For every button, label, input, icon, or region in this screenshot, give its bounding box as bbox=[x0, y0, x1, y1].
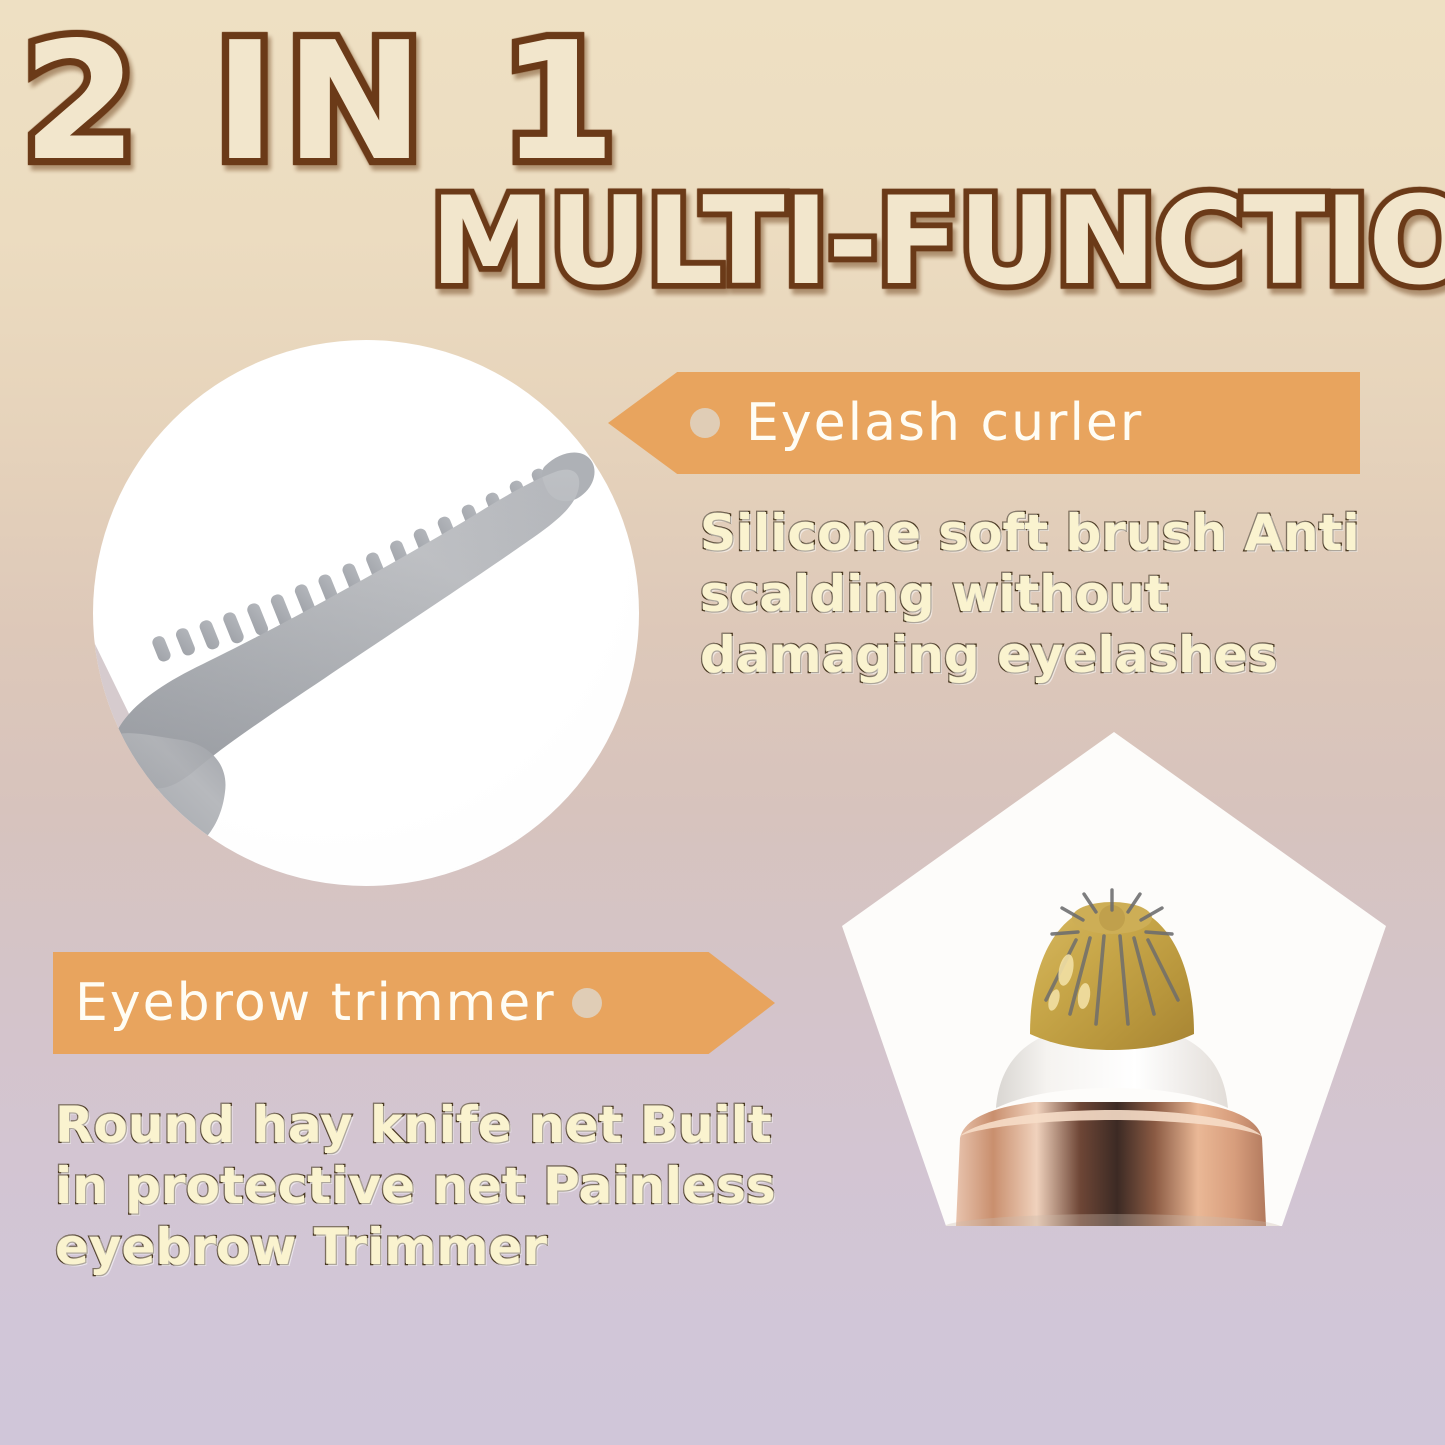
banner-label-eyebrow-trimmer: Eyebrow trimmer bbox=[75, 977, 556, 1029]
product-feature-poster: 2 IN 1 MULTI-FUNCTION bbox=[0, 0, 1445, 1445]
feature-banner-eyebrow-trimmer[interactable]: Eyebrow trimmer bbox=[53, 952, 775, 1054]
feature-description-eyelash-curler: Silicone soft brush Anti scalding withou… bbox=[700, 503, 1430, 686]
dot-icon bbox=[690, 408, 720, 438]
trimmer-head-photo bbox=[838, 728, 1390, 1248]
dot-icon bbox=[572, 988, 602, 1018]
feature-banner-eyelash-curler[interactable]: Eyelash curler bbox=[608, 372, 1360, 474]
banner-label-eyelash-curler: Eyelash curler bbox=[746, 397, 1143, 449]
silicone-brush-photo bbox=[93, 340, 639, 886]
title-line-1: 2 IN 1 bbox=[22, 8, 625, 197]
feature-description-eyebrow-trimmer: Round hay knife net Built in protective … bbox=[55, 1095, 795, 1278]
title-block: 2 IN 1 MULTI-FUNCTION bbox=[0, 0, 1445, 300]
title-line-2: MULTI-FUNCTION bbox=[430, 172, 1445, 312]
